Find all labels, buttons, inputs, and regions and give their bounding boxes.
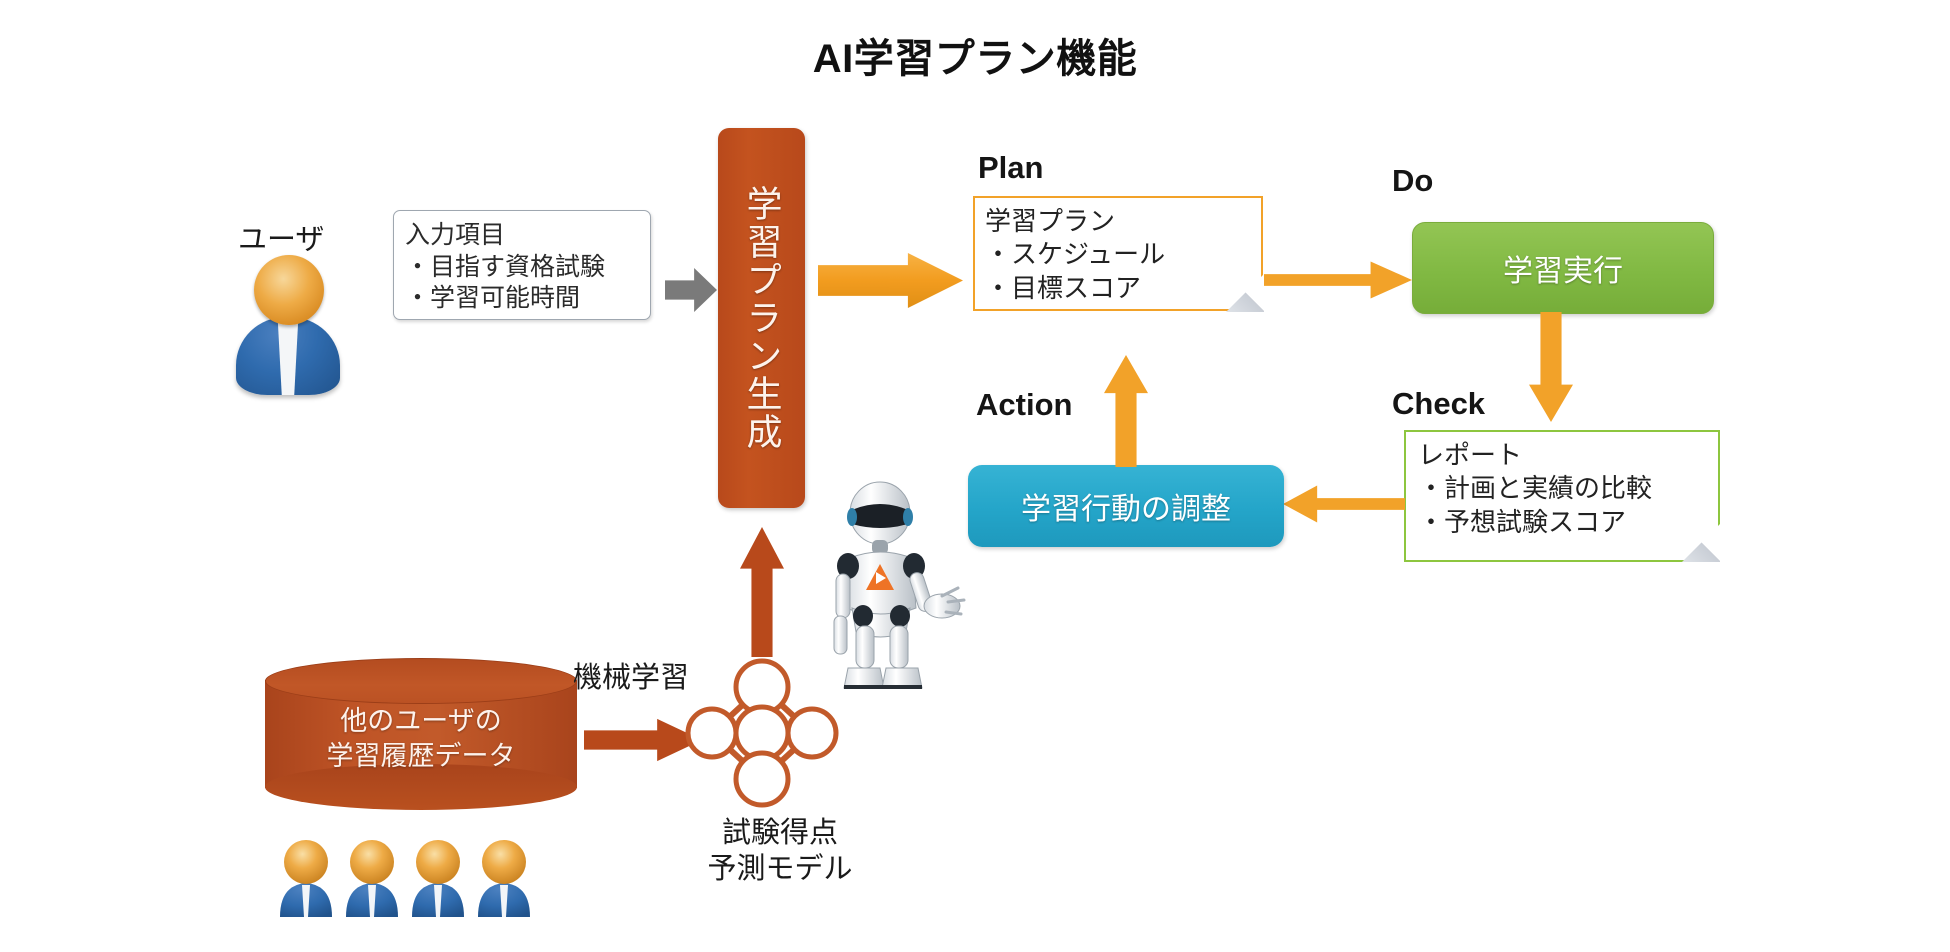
check-phase-label: Check: [1392, 386, 1485, 422]
orange-right-arrow-icon: [818, 253, 963, 308]
plan-item-1: ・スケジュール: [985, 238, 1251, 271]
action-box-text: 学習行動の調整: [1021, 484, 1231, 528]
plan-generator-label: 学習プラン生成: [736, 185, 788, 451]
user-label: ユーザ: [238, 222, 324, 258]
plan-heading: 学習プラン: [985, 205, 1251, 238]
gray-right-arrow-icon: [665, 268, 717, 312]
user-avatar-icon: [228, 255, 348, 395]
prediction-model-label: 試験得点 予測モデル: [690, 815, 870, 888]
plan-item-2: ・目標スコア: [985, 272, 1251, 305]
do-phase-label: Do: [1392, 163, 1433, 199]
plan-phase-label: Plan: [978, 150, 1043, 186]
orange-connector-right-arrow-icon: [1264, 259, 1412, 301]
action-box: 学習行動の調整: [968, 465, 1284, 547]
do-box: 学習実行: [1412, 222, 1714, 314]
do-box-text: 学習実行: [1503, 246, 1623, 290]
database-cylinder: 他のユーザの 学習履歴データ: [265, 658, 577, 810]
machine-learning-label: 機械学習: [573, 660, 689, 696]
orange-up-arrow-icon: [1104, 355, 1148, 467]
database-label-line-1: 他のユーザの: [265, 704, 577, 739]
input-box-item-2: ・学習可能時間: [405, 283, 639, 315]
page-title: AI学習プラン機能: [0, 26, 1950, 84]
dark-orange-up-arrow-icon: [740, 527, 784, 657]
plan-generator-bar: 学習プラン生成: [718, 128, 805, 508]
input-box-item-1: ・目指す資格試験: [405, 252, 639, 284]
prediction-model-line-1: 試験得点: [690, 815, 870, 851]
orange-down-arrow-icon: [1529, 312, 1573, 422]
plan-box: 学習プラン ・スケジュール ・目標スコア: [973, 196, 1263, 311]
user-group-icon: [272, 835, 542, 920]
input-box-heading: 入力項目: [405, 220, 639, 252]
input-items-box: 入力項目 ・目指す資格試験 ・学習可能時間: [393, 210, 651, 320]
prediction-model-line-2: 予測モデル: [690, 851, 870, 887]
orange-left-arrow-icon: [1283, 483, 1405, 525]
check-item-2: ・予想試験スコア: [1418, 506, 1706, 539]
check-item-1: ・計画と実績の比較: [1418, 472, 1706, 505]
check-report-box: レポート ・計画と実績の比較 ・予想試験スコア: [1404, 430, 1720, 562]
neural-network-icon: [682, 655, 842, 810]
diagram-canvas: AI学習プラン機能 ユーザ 入力項目 ・目指す資格試験 ・学習可能時間 学習プラ…: [0, 0, 1950, 952]
database-label-line-2: 学習履歴データ: [265, 739, 577, 774]
action-phase-label: Action: [976, 387, 1072, 423]
check-heading: レポート: [1418, 439, 1706, 472]
